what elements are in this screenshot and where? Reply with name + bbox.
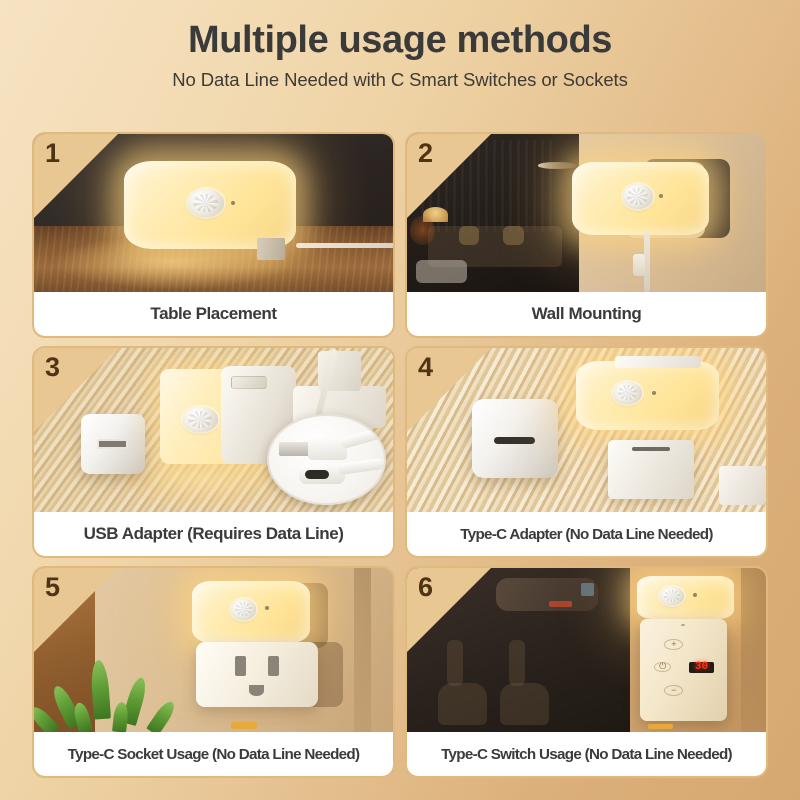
leaf-icon — [71, 701, 91, 732]
pir-sensor-icon — [613, 382, 642, 404]
usb-c-port-icon — [494, 437, 535, 445]
cushion-silhouette — [459, 226, 480, 245]
wall-edge-shadow — [741, 568, 766, 732]
page-title: Multiple usage methods — [0, 18, 800, 63]
card-caption-bar: Type-C Switch Usage (No Data Line Needed… — [407, 732, 766, 776]
night-light-device — [572, 162, 708, 235]
card-caption-bar: Table Placement — [34, 292, 393, 336]
kickstand — [257, 238, 286, 260]
smart-switch-panel[interactable]: + ⏻ − 30 — [640, 619, 726, 721]
switch-plus-button[interactable]: + — [664, 639, 683, 650]
white-base-block — [608, 440, 694, 499]
card-caption-bar: Type-C Socket Usage (No Data Line Needed… — [34, 732, 393, 776]
night-light-panel — [576, 361, 720, 430]
usage-card-usb-adapter[interactable]: 3 USB Adapter (Requires Data Line) — [32, 346, 395, 558]
night-light-device — [637, 576, 734, 619]
card-caption-text: Type-C Adapter (No Data Line Needed) — [460, 526, 712, 543]
card-caption-text: Type-C Switch Usage (No Data Line Needed… — [441, 746, 732, 763]
card-caption-text: Wall Mounting — [532, 304, 642, 324]
indicator-led-icon — [231, 201, 235, 205]
heater-label — [549, 601, 571, 608]
card-caption-bar: Wall Mounting — [407, 292, 766, 336]
pir-sensor-icon — [623, 184, 653, 209]
living-room-photo — [407, 134, 579, 292]
socket-ground-icon — [249, 685, 264, 695]
usage-card-typec-socket[interactable]: 5 Type-C Socket Usage (No Data Line Need… — [32, 566, 395, 778]
base-usb-c-port-icon — [632, 447, 670, 451]
pir-sensor-icon — [231, 599, 256, 620]
flower-vase — [410, 216, 434, 244]
coffee-table-silhouette — [416, 260, 468, 282]
green-plant — [48, 657, 199, 732]
page-header: Multiple usage methods No Data Line Need… — [0, 0, 800, 91]
usb-c-port-icon — [305, 470, 329, 479]
card-photo-typec-adapter — [407, 348, 766, 512]
card-caption-bar: Type-C Adapter (No Data Line Needed) — [407, 512, 766, 556]
leaf-icon — [112, 701, 129, 732]
pir-sensor-icon — [183, 407, 218, 432]
light-top-cover — [615, 356, 701, 367]
card-caption-bar: USB Adapter (Requires Data Line) — [34, 512, 393, 556]
floor-lamp-icon — [538, 162, 576, 168]
card-photo-table-placement — [34, 134, 393, 292]
cushion-silhouette — [503, 226, 524, 245]
leaf-icon — [89, 659, 110, 719]
switch-led-icon — [681, 624, 685, 626]
pir-sensor-icon — [188, 189, 224, 216]
card-photo-typec-socket — [34, 568, 393, 732]
usage-card-typec-adapter[interactable]: 4 Type-C Adapter (No Data Line Needed) — [405, 346, 768, 558]
page-subtitle: No Data Line Needed with C Smart Switche… — [0, 69, 800, 91]
power-cable — [296, 243, 393, 248]
night-light-device — [576, 361, 720, 430]
socket-slot-right-icon — [268, 656, 279, 676]
wall-socket — [196, 642, 318, 708]
usage-card-typec-switch[interactable]: + ⏻ − 30 6 Type-C Switch Usage (No Data … — [405, 566, 768, 778]
night-light-panel — [637, 576, 734, 619]
towel-rail-silhouette — [509, 640, 525, 686]
card-photo-typec-switch: + ⏻ − 30 — [407, 568, 766, 732]
towel-rail-silhouette — [447, 640, 463, 686]
card-photo-wall-mounting — [407, 134, 766, 292]
usage-methods-grid: 1 Table Placement — [32, 132, 768, 778]
card-photo-usb-adapter — [34, 348, 393, 512]
usb-a-port-icon — [97, 439, 128, 449]
night-light-device — [192, 581, 310, 643]
card-caption-text: USB Adapter (Requires Data Line) — [84, 524, 344, 544]
toilet-silhouette — [438, 683, 487, 726]
cable-lower — [337, 458, 384, 476]
dark-bathroom-photo — [407, 568, 630, 732]
white-side-block — [719, 466, 766, 505]
toilet-silhouette — [500, 683, 549, 726]
heater-display-icon — [581, 583, 594, 596]
usage-card-wall-mounting[interactable]: 2 Wall Mounting — [405, 132, 768, 338]
switch-indicator-icon — [648, 724, 673, 729]
socket-slot-left-icon — [235, 656, 246, 676]
usage-card-table-placement[interactable]: 1 Table Placement — [32, 132, 395, 338]
mode-switch-button — [231, 376, 267, 389]
usb-plug — [633, 254, 645, 276]
night-light-device — [124, 161, 296, 249]
card-caption-text: Type-C Socket Usage (No Data Line Needed… — [68, 746, 360, 763]
wall-edge-shadow — [354, 568, 372, 732]
switch-minus-button[interactable]: − — [664, 685, 683, 696]
leaf-icon — [146, 698, 177, 732]
switch-power-button[interactable]: ⏻ — [654, 662, 671, 672]
card-caption-text: Table Placement — [150, 304, 276, 324]
usb-cable-inset-badge — [267, 414, 385, 506]
usb-a-adapter — [81, 414, 146, 475]
switch-display: 30 — [689, 662, 715, 673]
typec-adapter — [472, 399, 558, 478]
socket-indicator-icon — [231, 722, 256, 729]
cable-upper — [340, 428, 383, 449]
